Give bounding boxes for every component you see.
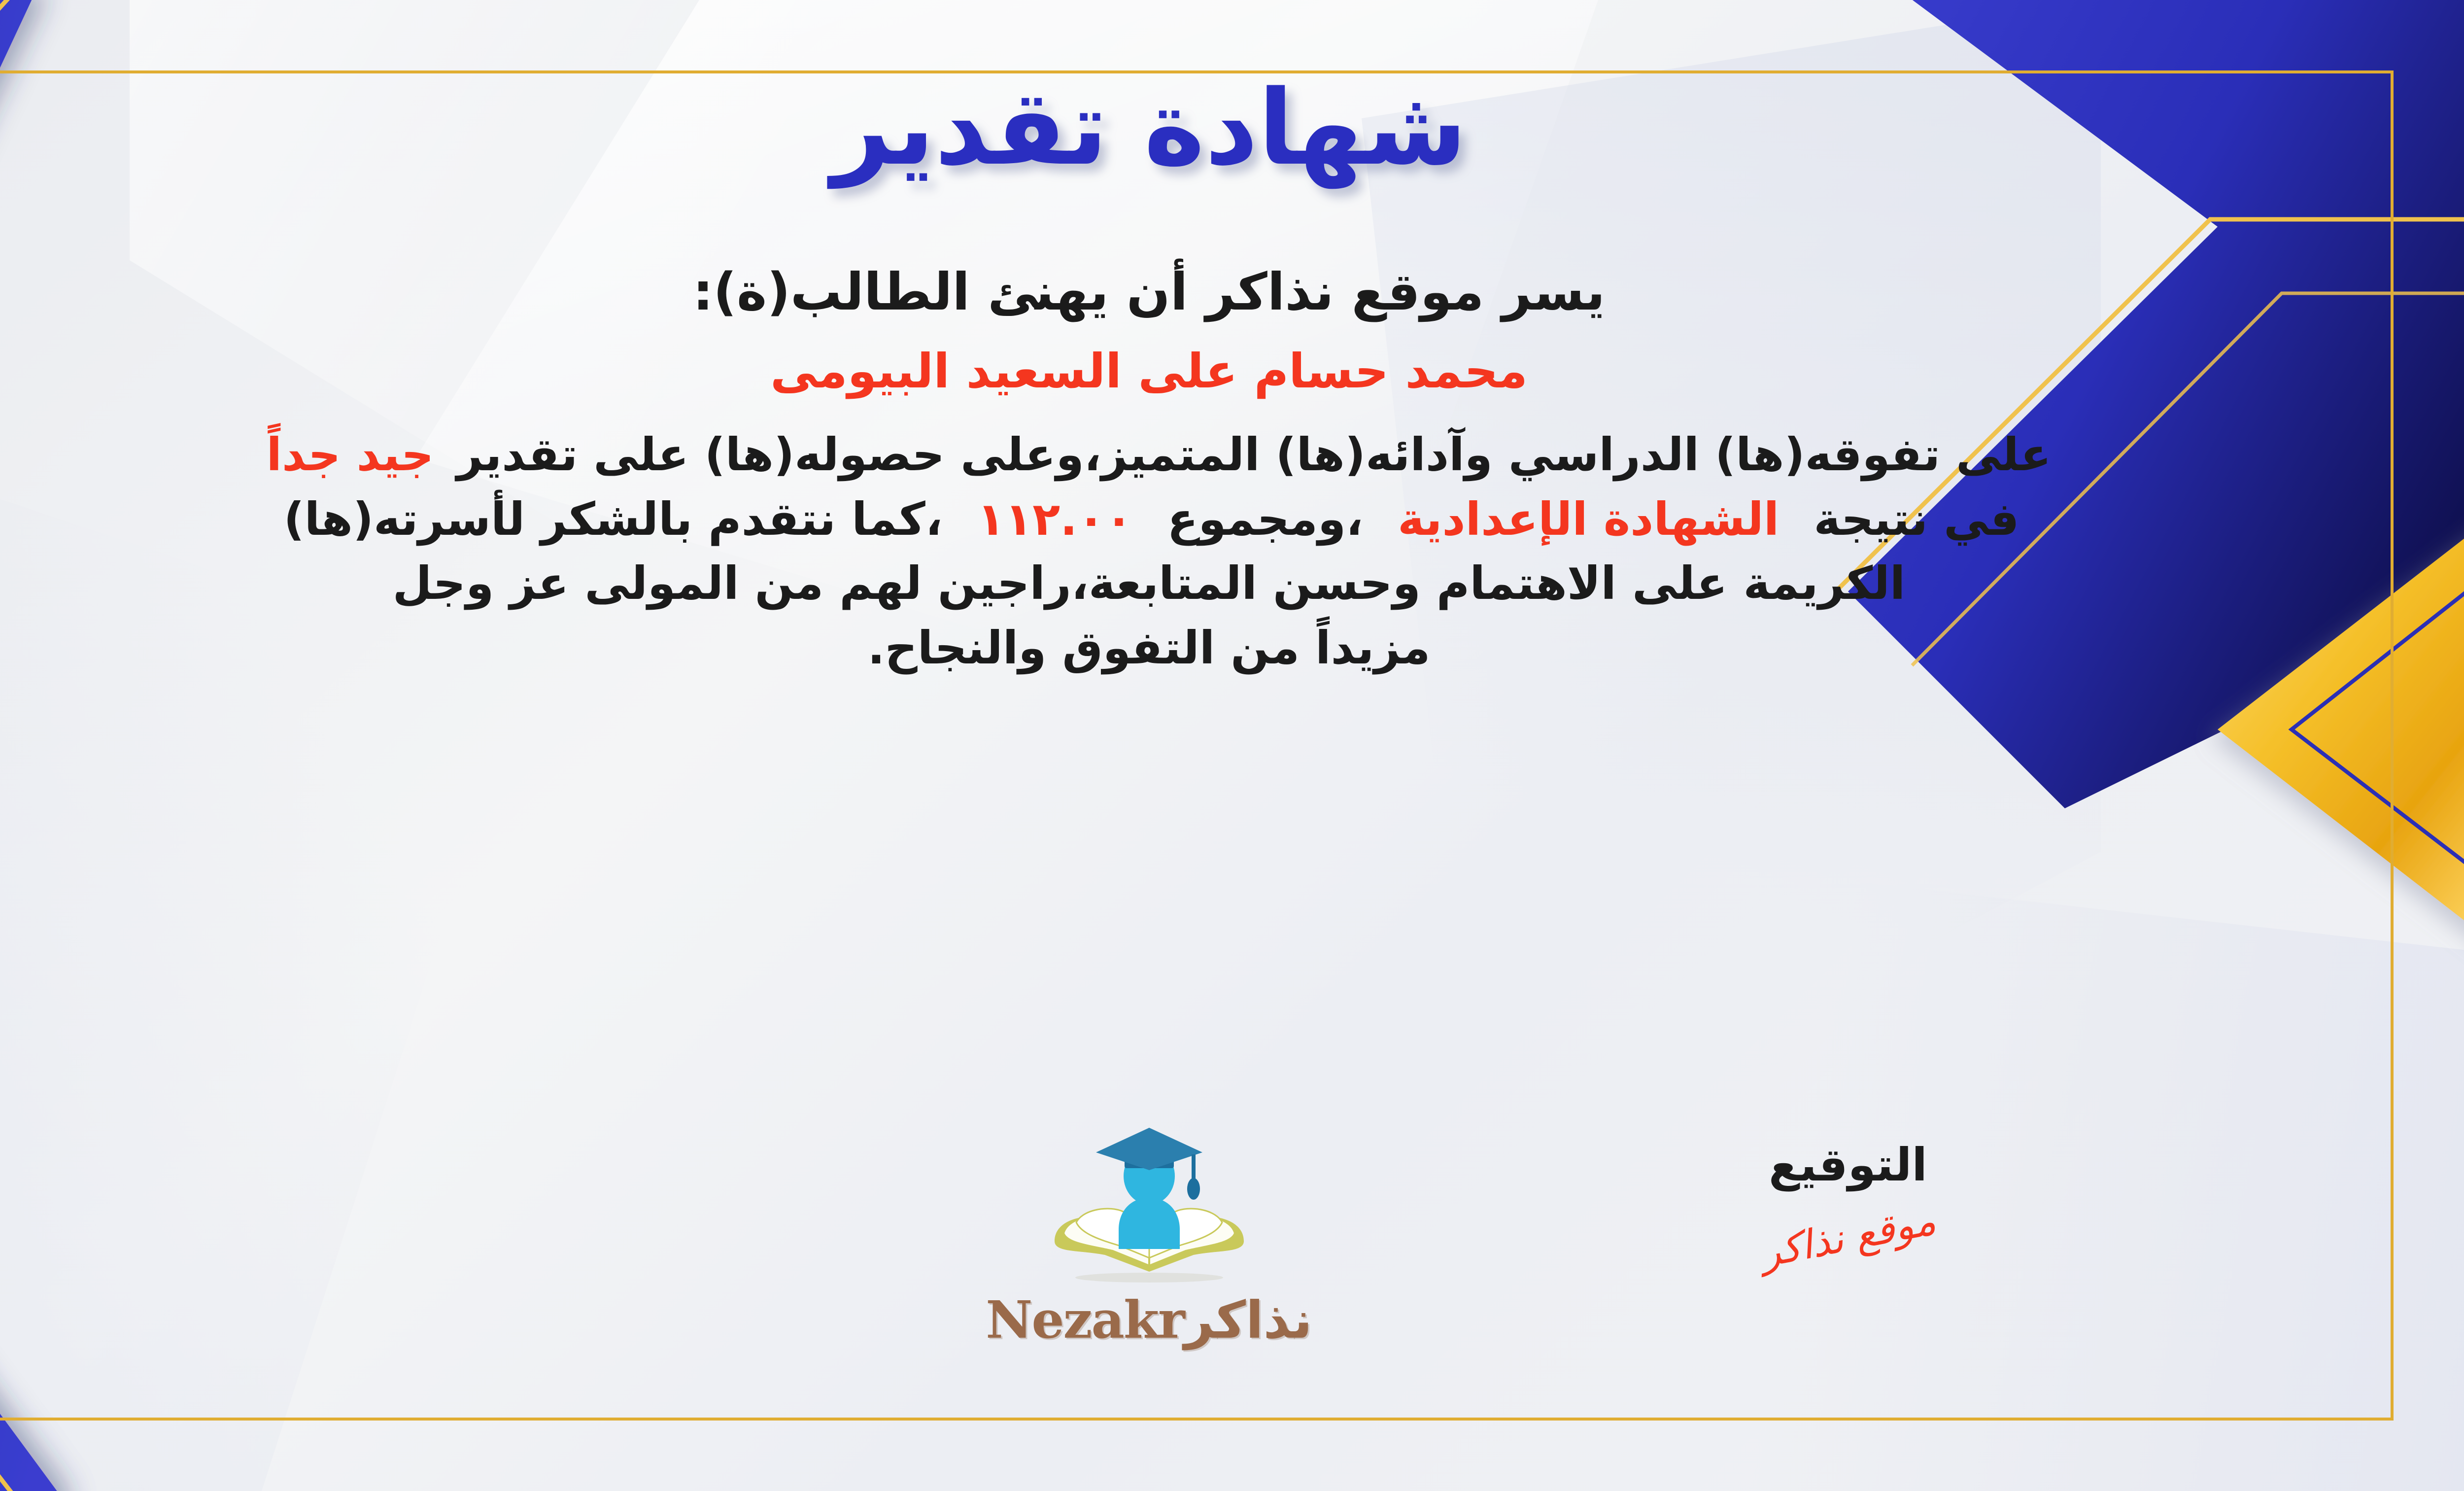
body-line-4: مزيداً من التفوق والنجاح.: [0, 616, 2394, 681]
body-line-2-suffix: ،كما نتقدم بالشكر لأسرته(ها): [284, 493, 943, 546]
logo-wordmark: نذاكرNezakr: [986, 1289, 1312, 1350]
certificate-document: شهادة تقدير يسر موقع نذاكر أن يهنئ الطال…: [0, 0, 2464, 1491]
body-line-3: الكريمة على الاهتمام وحسن المتابعة،راجين…: [0, 552, 2394, 616]
greeting-line: يسر موقع نذاكر أن يهنئ الطالب(ة):: [693, 265, 1605, 319]
body-line-1: على تفوقه(ها) الدراسي وآدائه(ها) المتميز…: [0, 423, 2394, 487]
grade-value: جيد جداً: [266, 428, 434, 481]
certificate-body: على تفوقه(ها) الدراسي وآدائه(ها) المتميز…: [0, 423, 2394, 681]
body-line-2-middle: ،ومجموع: [1167, 493, 1363, 546]
body-line-2-prefix: في نتيجة: [1814, 493, 2019, 546]
graduation-book-logo-icon: [1046, 1124, 1253, 1286]
student-name: محمد حسام على السعيد البيومى: [770, 347, 1528, 396]
logo-name-latin: Nezakr: [986, 1289, 1184, 1350]
site-logo: نذاكرNezakr: [0, 1124, 2464, 1350]
certificate-title-text: شهادة تقدير: [827, 68, 1467, 189]
certificate-footer: التوقيع موقع نذاكر: [0, 1134, 2464, 1439]
logo-name-arabic: نذاكر: [1184, 1290, 1312, 1350]
exam-name: الشهادة الإعدادية: [1398, 493, 1779, 546]
certificate-title-calligraphy: شهادة تقدير: [681, 49, 1617, 212]
certificate-title: شهادة تقدير: [681, 49, 1617, 212]
body-line-1-text: على تفوقه(ها) الدراسي وآدائه(ها) المتميز…: [456, 428, 2051, 481]
body-line-2: في نتيجةالشهادة الإعدادية،ومجموع١١٢.٠٠،ك…: [0, 487, 2394, 552]
total-score: ١١٢.٠٠: [977, 493, 1133, 546]
